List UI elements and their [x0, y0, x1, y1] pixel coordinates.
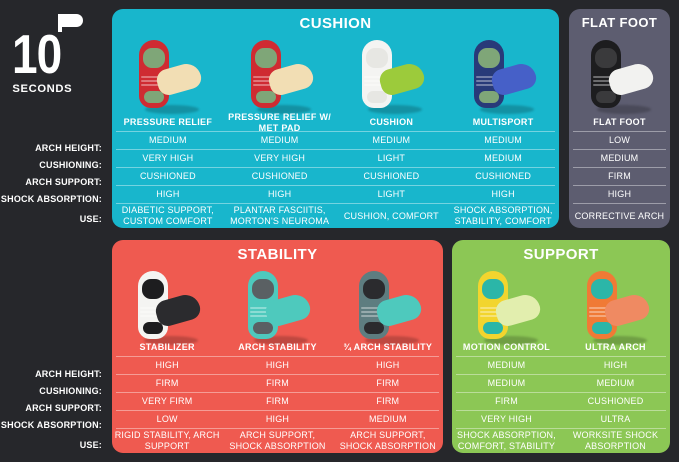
product-image-cushion-2 [336, 33, 448, 123]
toe-pad [256, 91, 276, 103]
insole-pair-icon [466, 38, 540, 118]
cell-shock-absorption: HIGH [224, 189, 336, 200]
panel-title-cushion: CUSHION [112, 15, 559, 32]
product-name: PRESSURE RELIEF [112, 117, 224, 128]
insole-comparison-chart: 10 SECONDS ARCH HEIGHT: CUSHIONING: ARCH… [0, 0, 679, 462]
table-row: FIRMCUSHIONED [452, 393, 670, 410]
panel-support: SUPPORTMOTION CONTROLULTRA ARCHMEDIUMHIG… [452, 240, 670, 453]
cell-arch-height: HIGH [222, 360, 332, 371]
heel-pad [366, 48, 388, 68]
insole-pair-icon [470, 269, 544, 349]
cell-shock-absorption: HIGH [569, 189, 670, 200]
cell-use: CUSHION, COMFORT [336, 211, 448, 222]
cell-arch-height: MEDIUM [336, 135, 448, 146]
cell-cushioning: VERY HIGH [112, 153, 224, 164]
cell-cushioning: FIRM [112, 378, 222, 389]
table-row: VERY HIGHVERY HIGHLIGHTMEDIUM [112, 150, 559, 167]
table-row-use: SHOCK ABSORPTION, COMFORT, STABILITYWORK… [452, 429, 670, 453]
cell-arch-support: CUSHIONED [447, 171, 559, 182]
cell-arch-support: FIRM [222, 396, 332, 407]
row-label-cushioning-2: CUSHIONING: [0, 382, 108, 399]
product-name: MOTION CONTROL [452, 342, 561, 353]
cell-cushioning: LIGHT [336, 153, 448, 164]
heel-pad [478, 48, 500, 68]
heel-pad [255, 48, 277, 68]
cell-use: SHOCK ABSORPTION, STABILITY, COMFORT [447, 205, 559, 227]
panel-title-flatfoot: FLAT FOOT [569, 15, 670, 30]
insole-pair-icon [354, 38, 428, 118]
table-row: MEDIUM [569, 150, 670, 167]
cell-cushioning: MEDIUM [569, 153, 670, 164]
product-name: ULTRA ARCH [561, 342, 670, 353]
table-row-use: DIABETIC SUPPORT, CUSTOM COMFORTPLANTAR … [112, 204, 559, 228]
cell-use: ARCH SUPPORT, SHOCK ABSORPTION [222, 430, 332, 452]
row-label-shock-absorption-2: SHOCK ABSORPTION: [0, 416, 108, 433]
cell-use: RIGID STABILITY, ARCH SUPPORT [112, 430, 222, 452]
row-label-arch-support-2: ARCH SUPPORT: [0, 399, 108, 416]
table-header-row: MOTION CONTROLULTRA ARCH [452, 339, 670, 356]
product-name: MULTISPORT [447, 117, 559, 128]
table-row: FIRMFIRMFIRM [112, 375, 443, 392]
cell-arch-support: FIRM [333, 396, 443, 407]
cell-shock-absorption: HIGH [447, 189, 559, 200]
cell-arch-height: MEDIUM [447, 135, 559, 146]
heel-pad [143, 48, 165, 68]
cell-arch-height: MEDIUM [112, 135, 224, 146]
row-label-use-2: USE: [0, 433, 108, 457]
table-row: VERY FIRMFIRMFIRM [112, 393, 443, 410]
table-row: MEDIUMMEDIUM [452, 375, 670, 392]
product-image-strip [112, 33, 559, 123]
cell-arch-height: LOW [569, 135, 670, 146]
table-row: MEDIUMMEDIUMMEDIUMMEDIUM [112, 132, 559, 149]
cell-cushioning: FIRM [333, 378, 443, 389]
row-label-use: USE: [0, 207, 108, 231]
toe-pad [483, 322, 503, 334]
cell-arch-support: VERY FIRM [112, 396, 222, 407]
cell-arch-support: CUSHIONED [561, 396, 670, 407]
cell-cushioning: MEDIUM [561, 378, 670, 389]
cell-use: WORKSITE SHOCK ABSORPTION [561, 430, 670, 452]
panel-flat-foot: FLAT FOOTFLAT FOOTLOWMEDIUMFIRMHIGHCORRE… [569, 9, 670, 228]
row-label-arch-height-2: ARCH HEIGHT: [0, 365, 108, 382]
heel-pad [363, 279, 385, 299]
toe-pad [144, 91, 164, 103]
heel-pad [595, 48, 617, 68]
cell-arch-height: MEDIUM [452, 360, 561, 371]
cell-shock-absorption: MEDIUM [333, 414, 443, 425]
insole-pair-icon [579, 269, 653, 349]
table-row: VERY HIGHULTRA [452, 411, 670, 428]
product-name: STABILIZER [112, 342, 222, 353]
cell-arch-height: HIGH [112, 360, 222, 371]
heel-pad [142, 279, 164, 299]
row-label-arch-support: ARCH SUPPORT: [0, 173, 108, 190]
panel-cushion: CUSHIONPRESSURE RELIEFPRESSURE RELIEF W/… [112, 9, 559, 228]
row-label-arch-height: ARCH HEIGHT: [0, 139, 108, 156]
insole-pair-icon [131, 38, 205, 118]
table-header-row: PRESSURE RELIEFPRESSURE RELIEF W/ MET PA… [112, 114, 559, 131]
toe-pad [592, 322, 612, 334]
flag-icon [61, 14, 83, 27]
cell-cushioning: FIRM [222, 378, 332, 389]
table-header-row: STABILIZERARCH STABILITY¾ ARCH STABILITY [112, 339, 443, 356]
cell-arch-support: CUSHIONED [112, 171, 224, 182]
panel-title-support: SUPPORT [452, 246, 670, 263]
table-header-row: FLAT FOOT [569, 114, 670, 131]
spec-table-stability: STABILIZERARCH STABILITY¾ ARCH STABILITY… [112, 339, 443, 453]
cell-cushioning: VERY HIGH [224, 153, 336, 164]
table-row: HIGHHIGHLIGHTHIGH [112, 186, 559, 203]
product-image-cushion-1 [224, 33, 336, 123]
cell-use: ARCH SUPPORT, SHOCK ABSORPTION [333, 430, 443, 452]
cell-arch-support: CUSHIONED [224, 171, 336, 182]
table-row: LOWHIGHMEDIUM [112, 411, 443, 428]
table-row: CUSHIONEDCUSHIONEDCUSHIONEDCUSHIONED [112, 168, 559, 185]
cell-arch-support: FIRM [452, 396, 561, 407]
brand-name-secondary: SECONDS [12, 84, 72, 95]
product-name: CUSHION [336, 117, 448, 128]
table-row-use: RIGID STABILITY, ARCH SUPPORTARCH SUPPOR… [112, 429, 443, 453]
cell-arch-support: FIRM [569, 171, 670, 182]
product-name: PRESSURE RELIEF W/ MET PAD [224, 112, 336, 134]
cell-cushioning: MEDIUM [452, 378, 561, 389]
cell-shock-absorption: LIGHT [336, 189, 448, 200]
panel-stability: STABILITYSTABILIZERARCH STABILITY¾ ARCH … [112, 240, 443, 453]
insole-pair-icon [130, 269, 204, 349]
heel-pad [482, 279, 504, 299]
row-label-cushioning: CUSHIONING: [0, 156, 108, 173]
heel-pad [252, 279, 274, 299]
spec-table-support: MOTION CONTROLULTRA ARCHMEDIUMHIGHMEDIUM… [452, 339, 670, 453]
product-image-cushion-0 [112, 33, 224, 123]
table-row: MEDIUMHIGH [452, 357, 670, 374]
cell-use: DIABETIC SUPPORT, CUSTOM COMFORT [112, 205, 224, 227]
toe-pad [364, 322, 384, 334]
cell-shock-absorption: ULTRA [561, 414, 670, 425]
cell-use: SHOCK ABSORPTION, COMFORT, STABILITY [452, 430, 561, 452]
product-image-flatfoot-0 [569, 33, 670, 123]
row-labels-bottom: ARCH HEIGHT: CUSHIONING: ARCH SUPPORT: S… [0, 365, 108, 457]
table-row: HIGHHIGHHIGH [112, 357, 443, 374]
product-image-cushion-3 [447, 33, 559, 123]
table-row-use: CORRECTIVE ARCH [569, 204, 670, 228]
cell-arch-height: MEDIUM [224, 135, 336, 146]
cell-cushioning: MEDIUM [447, 153, 559, 164]
heel-pad [591, 279, 613, 299]
insole-pair-icon [240, 269, 314, 349]
product-name: FLAT FOOT [569, 117, 670, 128]
table-row: LOW [569, 132, 670, 149]
insole-pair-icon [583, 38, 657, 118]
product-name: ARCH STABILITY [222, 342, 332, 353]
cell-shock-absorption: HIGH [222, 414, 332, 425]
cell-use: CORRECTIVE ARCH [569, 211, 670, 222]
spec-table-flatfoot: FLAT FOOTLOWMEDIUMFIRMHIGHCORRECTIVE ARC… [569, 114, 670, 228]
product-name: ¾ ARCH STABILITY [333, 342, 443, 353]
row-labels-top: ARCH HEIGHT: CUSHIONING: ARCH SUPPORT: S… [0, 139, 108, 231]
cell-arch-support: CUSHIONED [336, 171, 448, 182]
toe-pad [596, 91, 616, 103]
spec-table-cushion: PRESSURE RELIEFPRESSURE RELIEF W/ MET PA… [112, 114, 559, 228]
cell-use: PLANTAR FASCIITIS, MORTON'S NEUROMA [224, 205, 336, 227]
table-row: FIRM [569, 168, 670, 185]
brand-name-primary: 10 [12, 27, 61, 81]
row-label-shock-absorption: SHOCK ABSORPTION: [0, 190, 108, 207]
panel-title-stability: STABILITY [112, 246, 443, 263]
brand-logo: 10 SECONDS [12, 14, 98, 76]
cell-shock-absorption: VERY HIGH [452, 414, 561, 425]
cell-shock-absorption: HIGH [112, 189, 224, 200]
cell-shock-absorption: LOW [112, 414, 222, 425]
insole-pair-icon [351, 269, 425, 349]
table-row: HIGH [569, 186, 670, 203]
cell-arch-height: HIGH [561, 360, 670, 371]
cell-arch-height: HIGH [333, 360, 443, 371]
product-image-strip [569, 33, 670, 123]
insole-pair-icon [243, 38, 317, 118]
